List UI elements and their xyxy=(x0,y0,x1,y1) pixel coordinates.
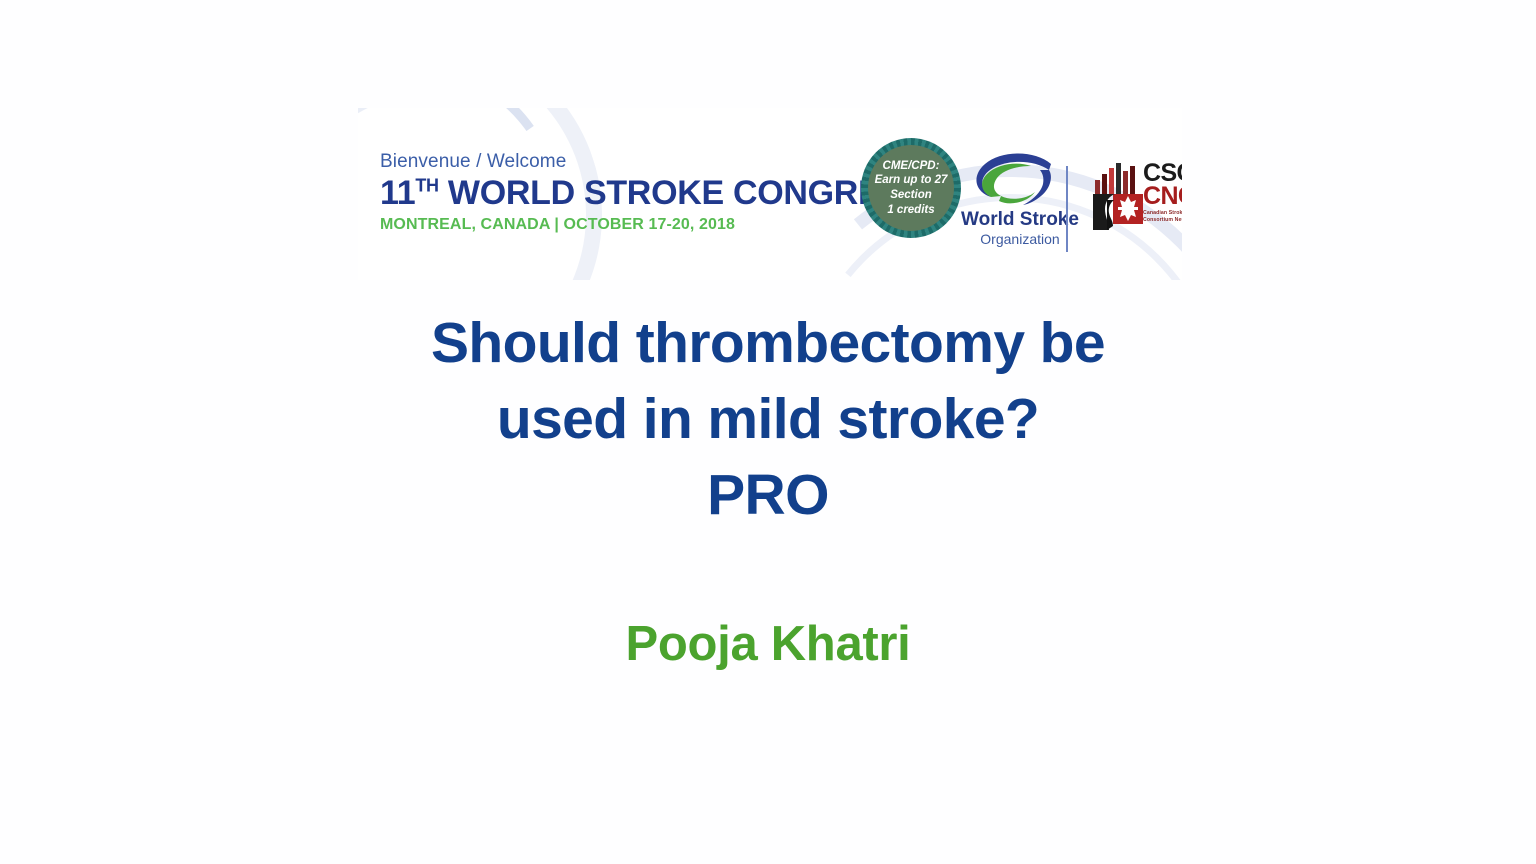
banner-location-dates: MONTREAL, CANADA | OCTOBER 17-20, 2018 xyxy=(380,217,925,233)
banner-welcome-text: Bienvenue / Welcome xyxy=(380,152,925,171)
slide-title-line-3: PRO xyxy=(268,458,1268,534)
logo-divider xyxy=(1066,166,1068,252)
banner-ordinal-suffix: TH xyxy=(415,176,438,196)
csc-cnc-logo: CSC CNC Canadian Stroke Consortium Conso… xyxy=(1093,160,1182,230)
badge-credits-text: CME/CPD: Earn up to 27 Section 1 credits xyxy=(875,159,948,218)
world-stroke-organization-logo: World Stroke Organization xyxy=(945,148,1095,258)
slide-title: Should thrombectomy be used in mild stro… xyxy=(268,306,1268,533)
wso-swirl-icon xyxy=(961,148,1073,210)
csc-wordmark: CSC CNC Canadian Stroke Consortium Conso… xyxy=(1143,162,1182,224)
cnc-abbreviation: CNC xyxy=(1143,185,1182,208)
csc-profile-bars-icon xyxy=(1093,160,1147,230)
csc-tagline-en: Canadian Stroke Consortium xyxy=(1143,210,1182,217)
congress-banner: Bienvenue / Welcome 11TH WORLD STROKE CO… xyxy=(358,108,1182,280)
slide-title-line-2: used in mild stroke? xyxy=(268,382,1268,458)
presenter-name: Pooja Khatri xyxy=(268,618,1268,672)
banner-congress-title: 11TH WORLD STROKE CONGRESS xyxy=(380,176,925,210)
banner-congress-name: WORLD STROKE CONGRESS xyxy=(448,174,925,212)
presentation-slide: Bienvenue / Welcome 11TH WORLD STROKE CO… xyxy=(0,0,1536,864)
badge-face: CME/CPD: Earn up to 27 Section 1 credits xyxy=(868,145,954,231)
csc-tagline-fr: Consortium Neurovasculaire Canadien xyxy=(1143,217,1182,224)
slide-title-line-1: Should thrombectomy be xyxy=(268,306,1268,382)
banner-text-block: Bienvenue / Welcome 11TH WORLD STROKE CO… xyxy=(380,152,925,233)
csc-tagline: Canadian Stroke Consortium Consortium Ne… xyxy=(1143,210,1182,224)
wso-name-text: World Stroke xyxy=(945,210,1095,230)
banner-ordinal-number: 11 xyxy=(380,174,415,212)
wso-subtitle-text: Organization xyxy=(945,232,1095,246)
